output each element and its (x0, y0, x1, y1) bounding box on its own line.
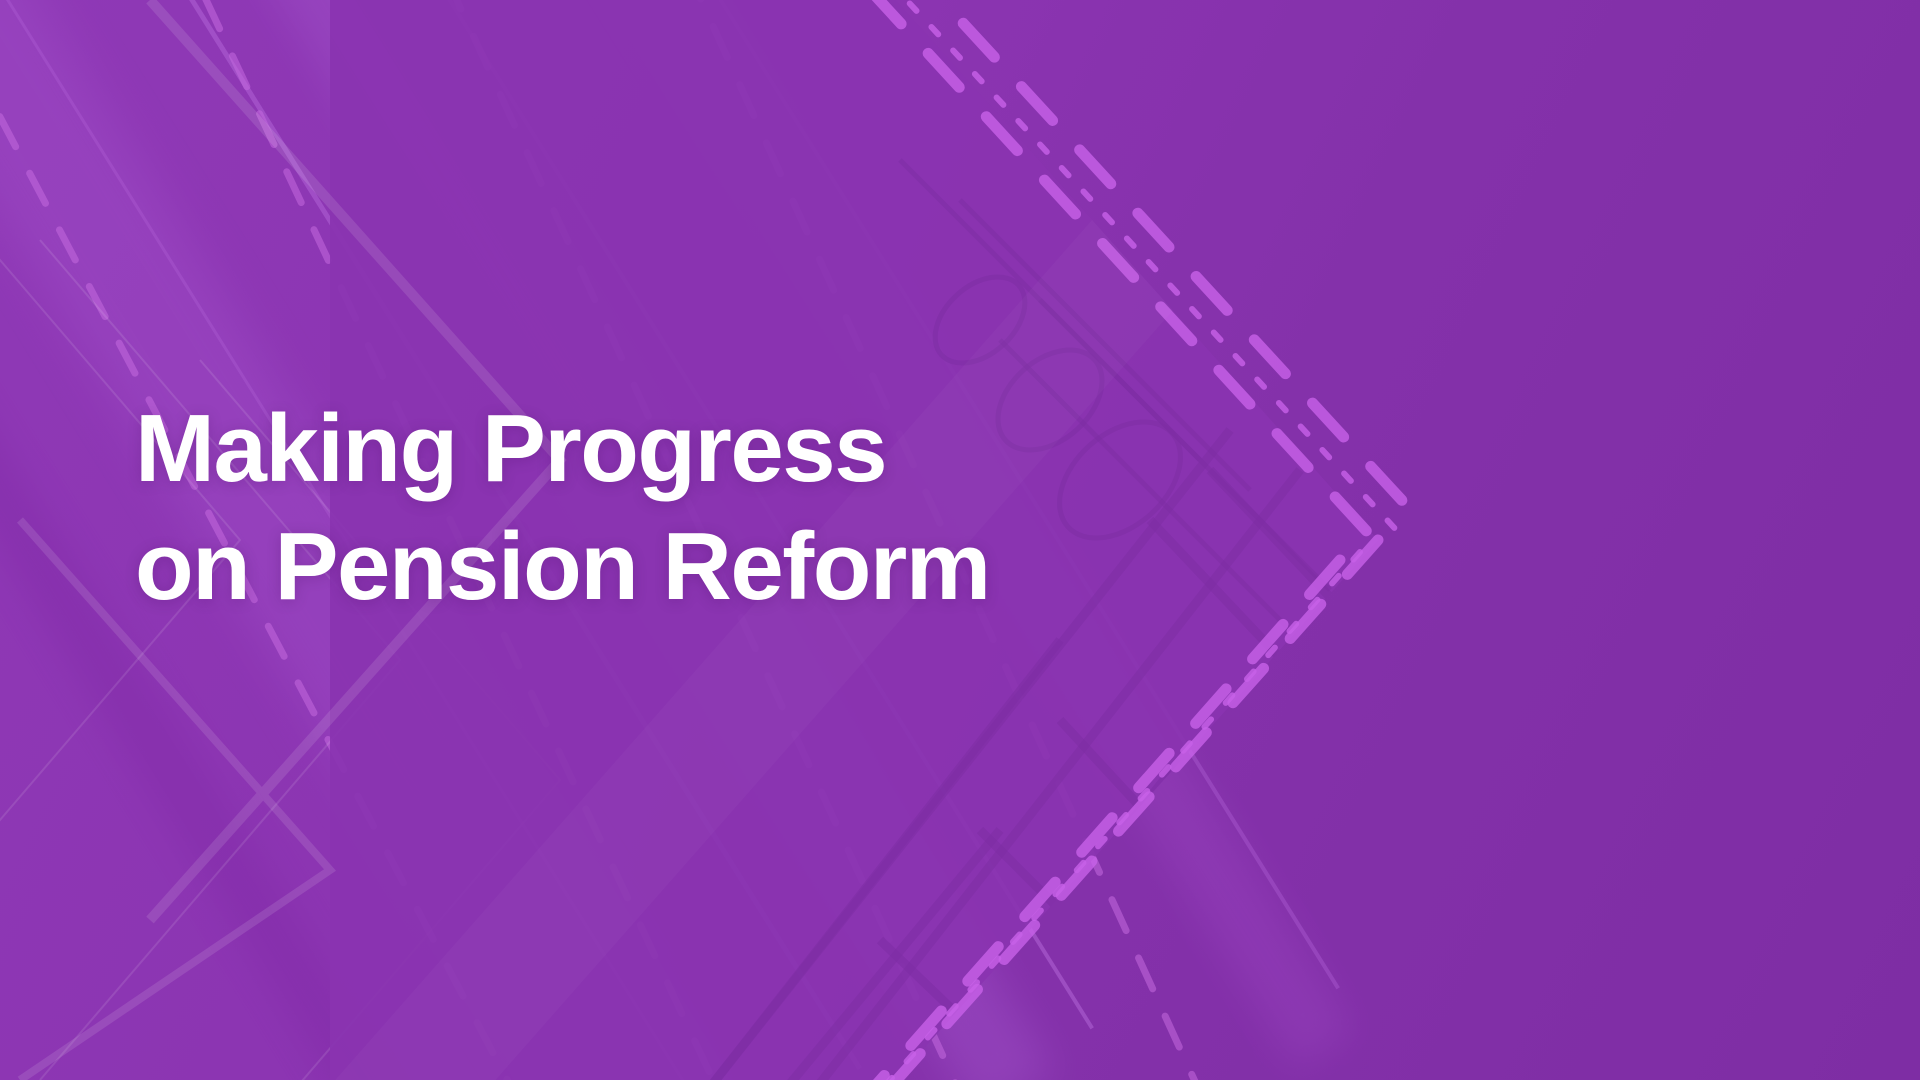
banner-title: Making Progress on Pension Reform (135, 390, 1135, 626)
title-line-1: Making Progress (135, 390, 1135, 508)
title-line-2: on Pension Reform (135, 508, 1135, 626)
hero-banner: Making Progress on Pension Reform (0, 0, 1920, 1080)
